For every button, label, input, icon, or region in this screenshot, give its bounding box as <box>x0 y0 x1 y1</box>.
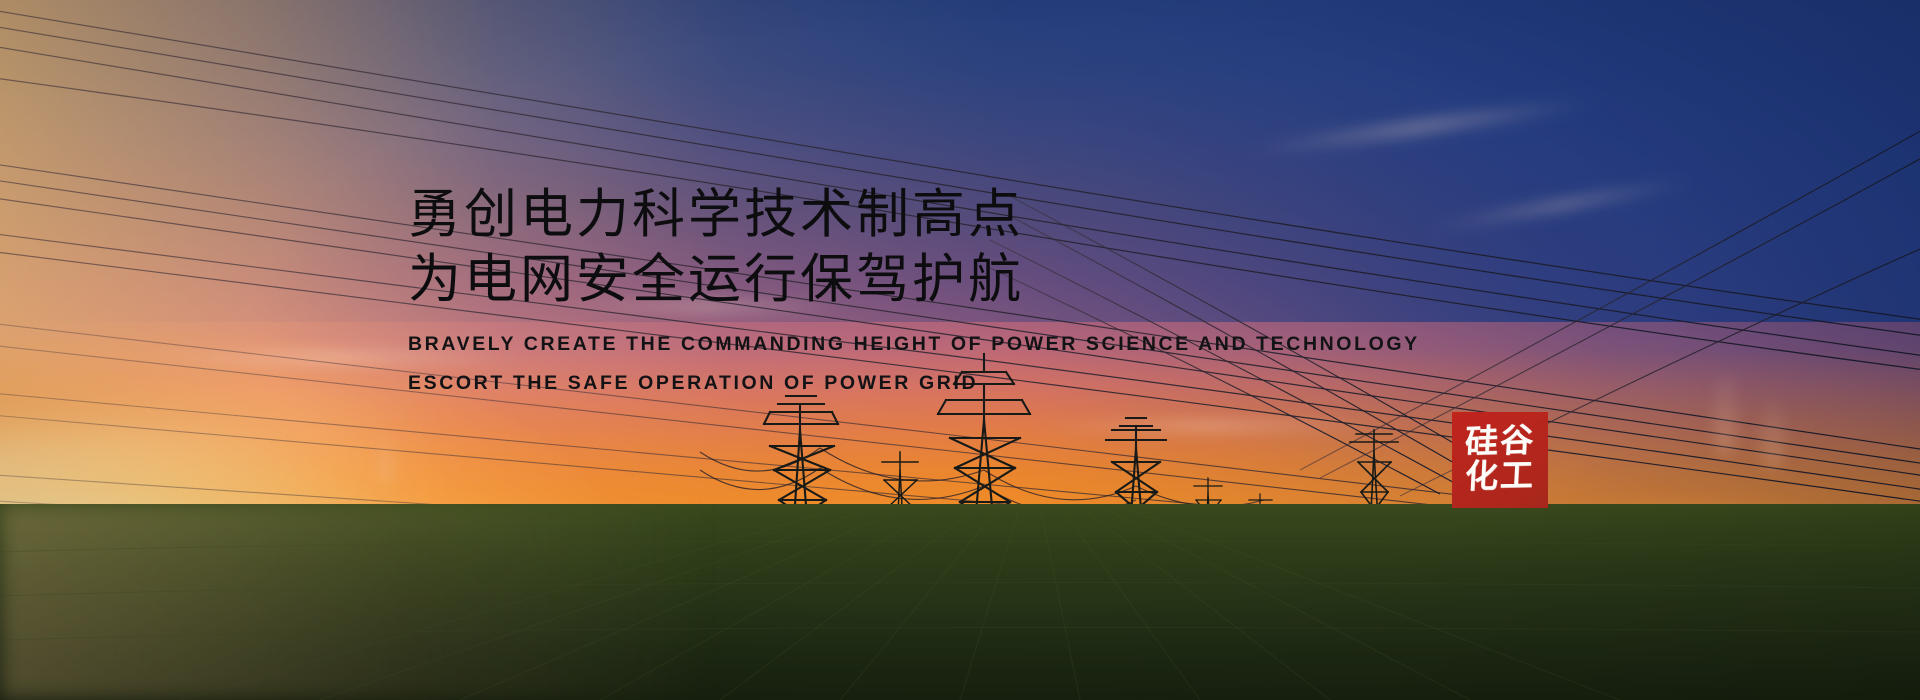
smoke-plume <box>1714 368 1736 454</box>
smoke-plume <box>378 430 394 484</box>
field-furrows-svg <box>0 500 1920 700</box>
smoke-plume <box>1762 398 1784 468</box>
headline-line-2: 为电网安全运行保驾护航 <box>408 248 1508 313</box>
logo-stamp-inner: 硅谷 化工 <box>1452 412 1548 508</box>
headline-line-1: 勇创电力科学技术制高点 <box>408 183 1508 248</box>
subtitle-line-1: BRAVELY CREATE THE COMMANDING HEIGHT OF … <box>408 333 1508 356</box>
subtitle-line-2: ESCORT THE SAFE OPERATION OF POWER GRID <box>408 372 1508 395</box>
company-logo-stamp[interactable]: 硅谷 化工 <box>1452 412 1548 508</box>
logo-text-line-1: 硅谷 <box>1464 425 1536 461</box>
banner-copy: 勇创电力科学技术制高点 为电网安全运行保驾护航 BRAVELY CREATE T… <box>408 183 1508 395</box>
furrow-curves <box>0 541 1920 640</box>
logo-text-line-2: 化工 <box>1464 460 1536 495</box>
furrow-lines <box>180 506 1620 700</box>
hero-banner: 勇创电力科学技术制高点 为电网安全运行保驾护航 BRAVELY CREATE T… <box>0 0 1920 700</box>
